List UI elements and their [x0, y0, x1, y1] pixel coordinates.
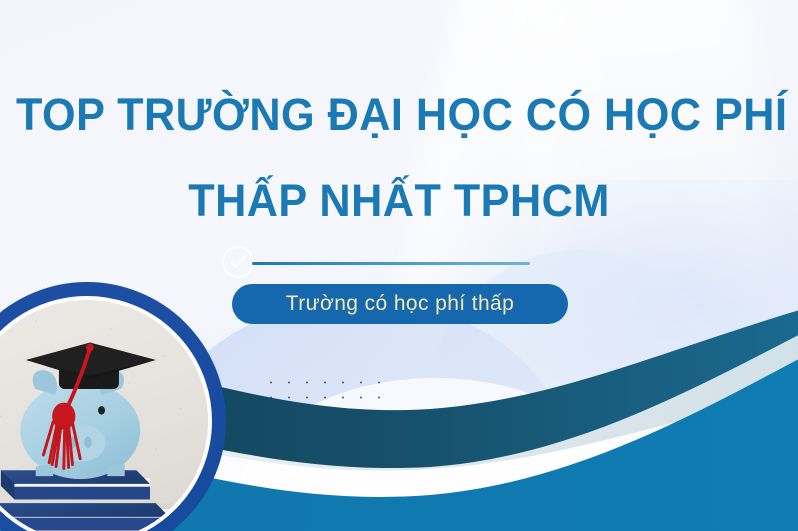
- subtitle-pill-label: Trường có học phí thấp: [286, 292, 514, 316]
- title-line-1: TOP TRƯỜNG ĐẠI HỌC CÓ HỌC PHÍ: [16, 72, 782, 158]
- divider-line: [252, 262, 530, 265]
- divider: [222, 246, 542, 280]
- title-line-2: THẤP NHẤT TPHCM: [16, 158, 782, 244]
- promo-banner: TOP TRƯỜNG ĐẠI HỌC CÓ HỌC PHÍ THẤP NHẤT …: [0, 0, 798, 531]
- piggy-bank-photo: [0, 296, 212, 531]
- subtitle-pill-button[interactable]: Trường có học phí thấp: [232, 284, 568, 324]
- piggy-bank-illustration: [0, 300, 208, 531]
- check-mark-icon: [229, 253, 247, 271]
- page-title: TOP TRƯỜNG ĐẠI HỌC CÓ HỌC PHÍ THẤP NHẤT …: [0, 72, 798, 244]
- check-circle-icon: [222, 246, 254, 278]
